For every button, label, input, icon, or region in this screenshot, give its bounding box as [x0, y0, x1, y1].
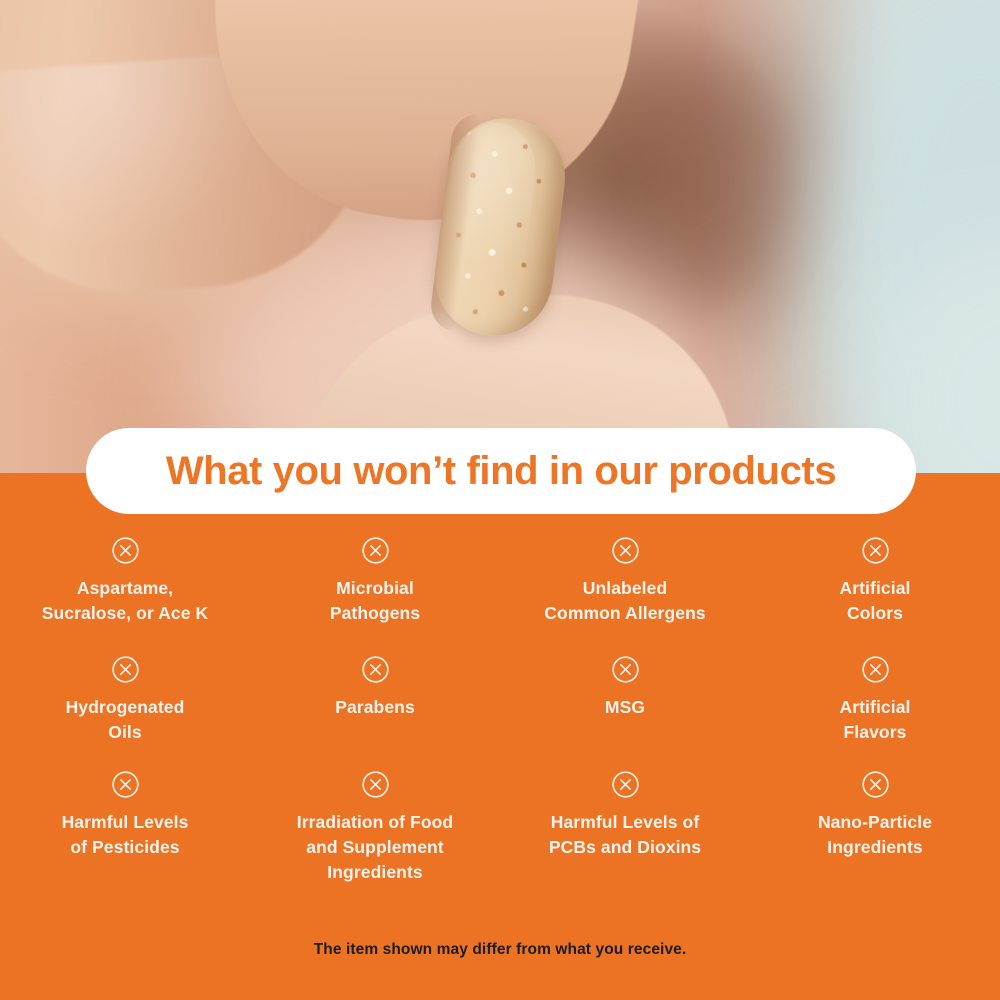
exclusion-grid: Aspartame,Sucralose, or Ace K MicrobialP… — [0, 536, 1000, 905]
circle-x-icon — [361, 770, 390, 799]
exclusion-label: Parabens — [335, 695, 415, 720]
exclusion-item: Aspartame,Sucralose, or Ace K — [0, 536, 250, 655]
exclusion-item: Parabens — [250, 655, 500, 770]
hero-photo — [0, 0, 1000, 473]
circle-x-icon — [111, 770, 140, 799]
exclusion-label: Nano-ParticleIngredients — [818, 810, 932, 860]
exclusion-label: Harmful Levels ofPCBs and Dioxins — [549, 810, 701, 860]
exclusion-label: Harmful Levelsof Pesticides — [62, 810, 189, 860]
product-claims-card: What you won’t find in our products Aspa… — [0, 0, 1000, 1000]
circle-x-icon — [361, 655, 390, 684]
headline-part-two: find in our products — [456, 449, 836, 493]
circle-x-icon — [111, 655, 140, 684]
exclusion-item: Irradiation of Foodand SupplementIngredi… — [250, 770, 500, 905]
circle-x-icon — [611, 536, 640, 565]
exclusion-item: Harmful Levelsof Pesticides — [0, 770, 250, 905]
headline-emphasis: won’t — [353, 449, 455, 493]
exclusion-label: HydrogenatedOils — [66, 695, 185, 745]
exclusion-label: ArtificialColors — [839, 576, 910, 626]
exclusion-item: HydrogenatedOils — [0, 655, 250, 770]
circle-x-icon — [611, 655, 640, 684]
exclusion-label: UnlabeledCommon Allergens — [544, 576, 705, 626]
exclusion-label: MicrobialPathogens — [330, 576, 420, 626]
circle-x-icon — [861, 770, 890, 799]
exclusion-item: MicrobialPathogens — [250, 536, 500, 655]
exclusion-item: UnlabeledCommon Allergens — [500, 536, 750, 655]
page-title: What you won’t find in our products — [166, 449, 836, 494]
circle-x-icon — [861, 536, 890, 565]
headline-part-one: What you — [166, 449, 354, 493]
exclusion-item: ArtificialColors — [750, 536, 1000, 655]
circle-x-icon — [361, 536, 390, 565]
circle-x-icon — [111, 536, 140, 565]
exclusion-item: ArtificialFlavors — [750, 655, 1000, 770]
exclusion-item: Harmful Levels ofPCBs and Dioxins — [500, 770, 750, 905]
exclusion-label: MSG — [605, 695, 645, 720]
exclusion-label: Aspartame,Sucralose, or Ace K — [42, 576, 209, 626]
disclaimer-text: The item shown may differ from what you … — [0, 941, 1000, 959]
circle-x-icon — [861, 655, 890, 684]
circle-x-icon — [611, 770, 640, 799]
exclusion-label: Irradiation of Foodand SupplementIngredi… — [297, 810, 453, 885]
exclusion-label: ArtificialFlavors — [839, 695, 910, 745]
exclusion-item: Nano-ParticleIngredients — [750, 770, 1000, 905]
headline-pill: What you won’t find in our products — [86, 428, 916, 514]
exclusion-item: MSG — [500, 655, 750, 770]
